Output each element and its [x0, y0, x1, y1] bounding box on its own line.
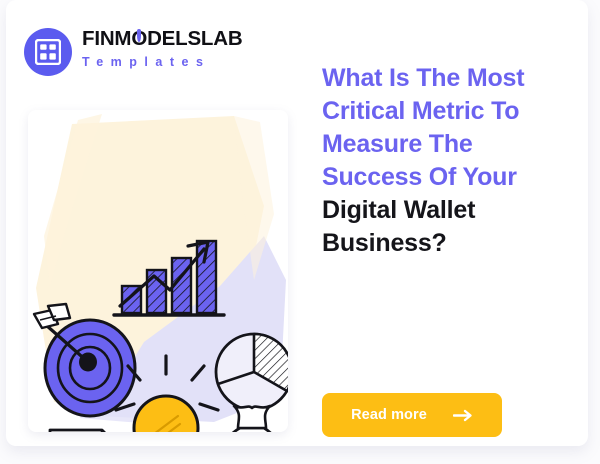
brand-name-part2: DELSLAB	[147, 27, 242, 50]
page-background: FINMODELSLAB Templates	[0, 0, 600, 464]
document-checklist-icon	[50, 430, 120, 432]
brand-name-o-letter: O	[131, 27, 147, 51]
grid-table-icon	[35, 39, 61, 65]
brand-text-block: FINMODELSLAB Templates	[82, 27, 282, 70]
read-more-button[interactable]: Read more	[322, 393, 502, 437]
headline-line-1: What Is The Most	[322, 62, 584, 95]
read-more-label: Read more	[351, 407, 427, 423]
headline-line-5: Digital Wallet	[322, 194, 584, 227]
arrow-right-icon	[453, 409, 473, 422]
promo-card: FINMODELSLAB Templates	[6, 0, 588, 446]
illustration-artwork: $	[28, 110, 288, 432]
headline-line-3: Measure The	[322, 128, 584, 161]
headline-line-4: Success Of Your	[322, 161, 584, 194]
brand-name-part1: FINM	[82, 27, 131, 50]
hero-illustration: $	[28, 110, 288, 432]
page-title: What Is The Most Critical Metric To Meas…	[322, 62, 584, 260]
brand-logo[interactable]: FINMODELSLAB Templates	[20, 22, 280, 84]
headline-line-6: Business?	[322, 227, 584, 260]
pie-chart-icon	[216, 334, 288, 410]
brand-mark-icon	[24, 28, 72, 76]
brand-subtitle: Templates	[82, 54, 282, 70]
headline-line-2: Critical Metric To	[322, 95, 584, 128]
brand-name: FINMODELSLAB	[82, 27, 282, 51]
